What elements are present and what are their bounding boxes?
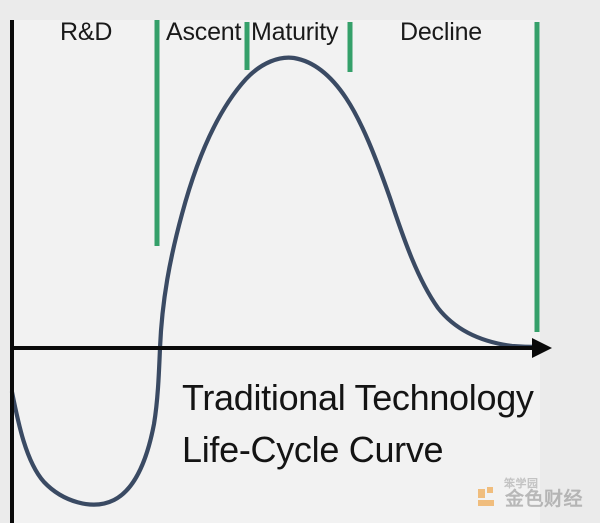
x-axis-arrowhead [532, 338, 552, 358]
chart-title-line-1: Traditional Technology [182, 372, 594, 424]
phase-label-rd: R&D [60, 20, 112, 45]
watermark: 金色财经 笨学园 [478, 484, 583, 511]
phase-label-ascent: Ascent [166, 20, 241, 45]
phase-label-maturity: Maturity [251, 20, 338, 45]
watermark-subtext: 笨学园 [504, 475, 539, 491]
chart-title-line-2: Life-Cycle Curve [182, 424, 594, 476]
chart-title: Traditional Technology Life-Cycle Curve [182, 372, 594, 476]
chart-figure: R&D Ascent Maturity Decline Traditional … [0, 0, 600, 523]
watermark-logo-icon [478, 487, 500, 509]
phase-label-decline: Decline [400, 20, 482, 45]
